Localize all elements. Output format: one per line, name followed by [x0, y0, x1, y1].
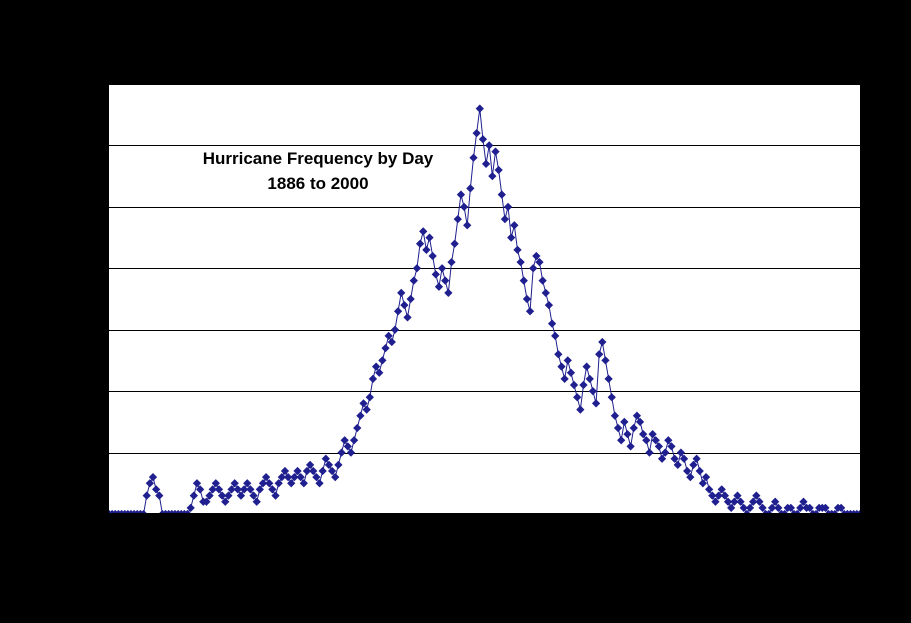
chart-canvas [108, 84, 861, 514]
chart-plot-area: Hurricane Frequency by Day 1886 to 2000 [108, 84, 861, 514]
screenshot-root: Hurricane Frequency by Day 1886 to 2000 [0, 0, 911, 623]
